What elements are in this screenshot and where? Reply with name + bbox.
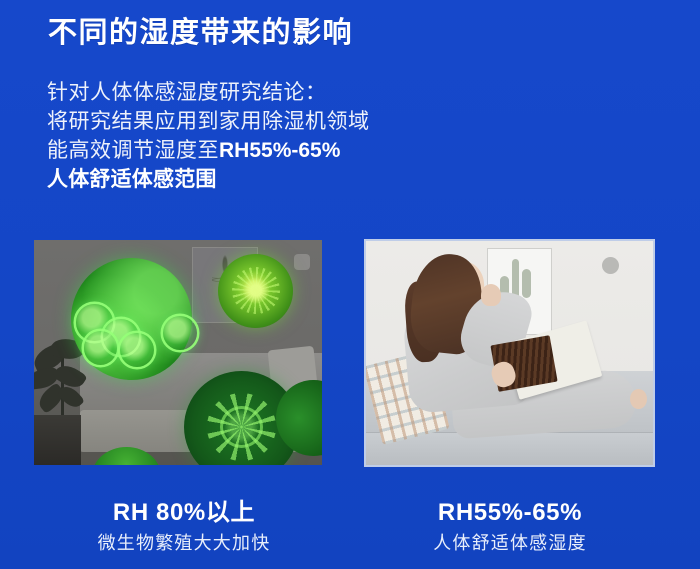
body-copy-line-1: 针对人体体感湿度研究结论： — [47, 78, 370, 107]
wall-speaker-icon — [294, 254, 310, 270]
dim-living-room-illustration — [34, 240, 322, 465]
microbe-sphere-top-icon — [218, 254, 293, 328]
caption-high-humidity: RH 80%以上 微生物繁殖大大加快 — [34, 498, 334, 555]
page-title: 不同的湿度带来的影响 — [48, 18, 353, 50]
humidity-range-highlight: RH55%-65% — [219, 139, 340, 162]
photo-high-humidity — [34, 240, 322, 465]
body-copy-line-4: 人体舒适体感范围 — [47, 165, 370, 194]
microbe-cluster-large-icon — [71, 258, 192, 380]
microbe-cell — [84, 331, 118, 365]
caption-subtitle: 微生物繁殖大大加快 — [34, 532, 334, 555]
body-copy-line-3-prefix: 能高效调节湿度至 — [47, 139, 219, 162]
wall-speaker-icon — [602, 257, 619, 274]
plant-pot — [34, 415, 80, 465]
caption-title: RH 80%以上 — [34, 498, 334, 528]
open-book-icon — [510, 331, 596, 389]
woman-hand-at-forehead — [481, 284, 501, 306]
microbe-cell — [163, 316, 197, 350]
microbe-core — [223, 409, 260, 445]
slide-root: 不同的湿度带来的影响 针对人体体感湿度研究结论： 将研究结果应用到家用除湿机领域… — [0, 0, 700, 569]
microbe-cell — [120, 333, 154, 367]
sofa-seam — [527, 433, 528, 465]
body-copy-line-3: 能高效调节湿度至RH55%-65% — [47, 136, 370, 165]
caption-comfort-humidity: RH55%-65% 人体舒适体感湿度 — [360, 498, 660, 555]
caption-subtitle: 人体舒适体感湿度 — [360, 532, 660, 555]
photo-comfort-humidity — [366, 241, 653, 465]
body-copy-line-2: 将研究结果应用到家用除湿机领域 — [47, 107, 370, 136]
caption-title: RH55%-65% — [360, 498, 660, 528]
body-copy: 针对人体体感湿度研究结论： 将研究结果应用到家用除湿机领域 能高效调节湿度至RH… — [47, 78, 370, 194]
bright-living-room-illustration — [366, 241, 653, 465]
